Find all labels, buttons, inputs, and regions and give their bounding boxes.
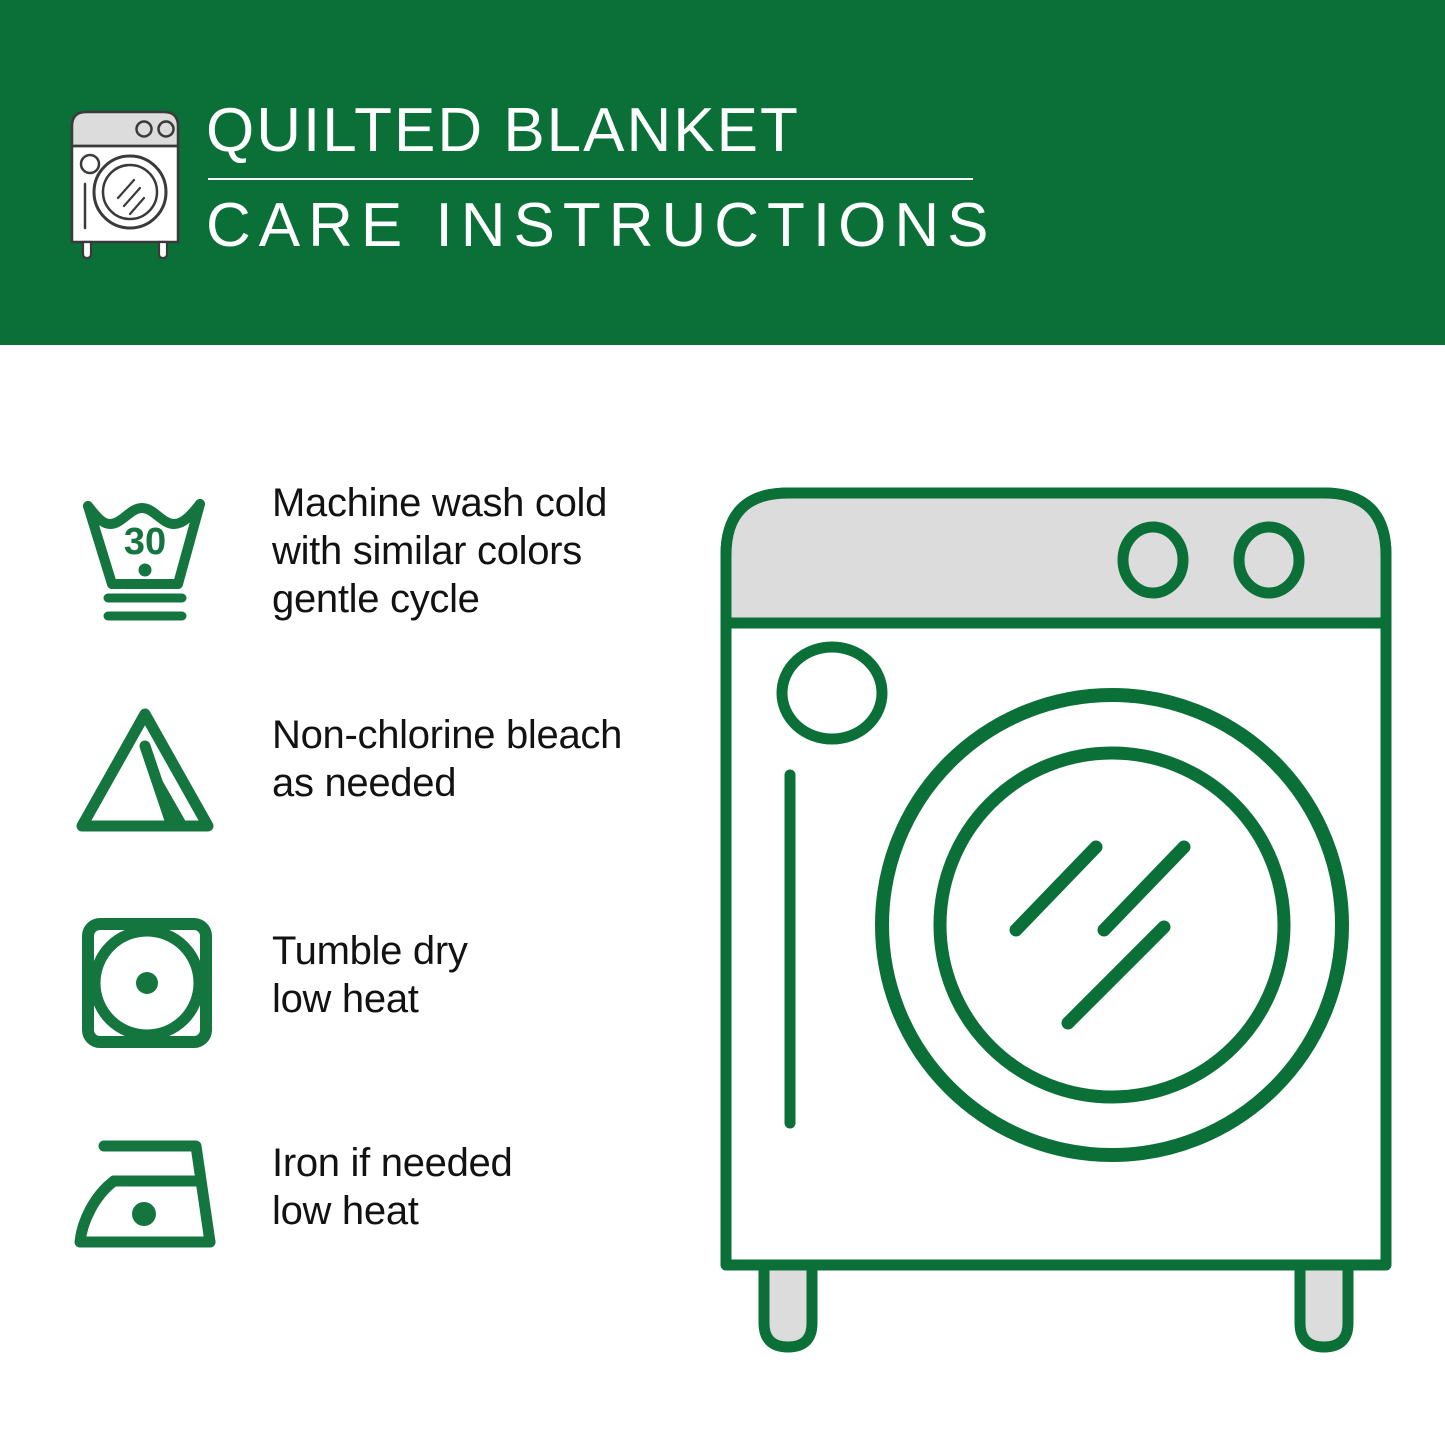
control-knob <box>1123 527 1183 593</box>
washing-machine-illustration <box>716 475 1396 1375</box>
care-instruction-item: Iron if needed low heat <box>62 1111 682 1323</box>
care-text-line: Iron if needed <box>272 1139 682 1187</box>
care-text-line: Machine wash cold <box>272 479 682 527</box>
care-instruction-text: Non-chlorine bleach as needed <box>252 687 682 807</box>
care-text-line: Non-chlorine bleach <box>272 711 682 759</box>
control-knob <box>1239 527 1299 593</box>
page-body: 30 Machine wash cold with similar colors… <box>0 345 1445 1445</box>
title-divider <box>208 178 973 180</box>
page-title-primary: QUILTED BLANKET <box>206 96 996 166</box>
care-instruction-item: Non-chlorine bleach as needed <box>62 687 682 899</box>
care-text-line: low heat <box>272 1187 682 1235</box>
care-instruction-text: Iron if needed low heat <box>252 1111 682 1235</box>
care-instruction-item: Tumble dry low heat <box>62 899 682 1111</box>
iron-low-heat-icon <box>62 1111 252 1276</box>
non-chlorine-bleach-icon <box>62 687 252 852</box>
care-text-line: low heat <box>272 975 682 1023</box>
page-title-secondary: CARE INSTRUCTIONS <box>206 190 996 262</box>
washing-machine-icon <box>66 102 184 260</box>
care-instructions-page: QUILTED BLANKET CARE INSTRUCTIONS <box>0 0 1445 1445</box>
tumble-dry-low-icon <box>62 899 252 1064</box>
header-title-block: QUILTED BLANKET CARE INSTRUCTIONS <box>206 96 996 262</box>
care-text-line: Tumble dry <box>272 927 682 975</box>
care-instruction-item: 30 Machine wash cold with similar colors… <box>62 475 682 687</box>
care-instruction-text: Machine wash cold with similar colors ge… <box>252 475 682 623</box>
care-instruction-text: Tumble dry low heat <box>252 899 682 1023</box>
care-text-line: gentle cycle <box>272 575 682 623</box>
wash-temperature-value: 30 <box>124 521 166 563</box>
care-text-line: with similar colors <box>272 527 682 575</box>
page-header: QUILTED BLANKET CARE INSTRUCTIONS <box>0 0 1445 345</box>
detergent-port <box>782 647 882 739</box>
header-content: QUILTED BLANKET CARE INSTRUCTIONS <box>66 96 996 262</box>
machine-wash-30-gentle-icon: 30 <box>62 475 252 640</box>
care-instruction-list: 30 Machine wash cold with similar colors… <box>62 475 682 1323</box>
care-text-line: as needed <box>272 759 682 807</box>
